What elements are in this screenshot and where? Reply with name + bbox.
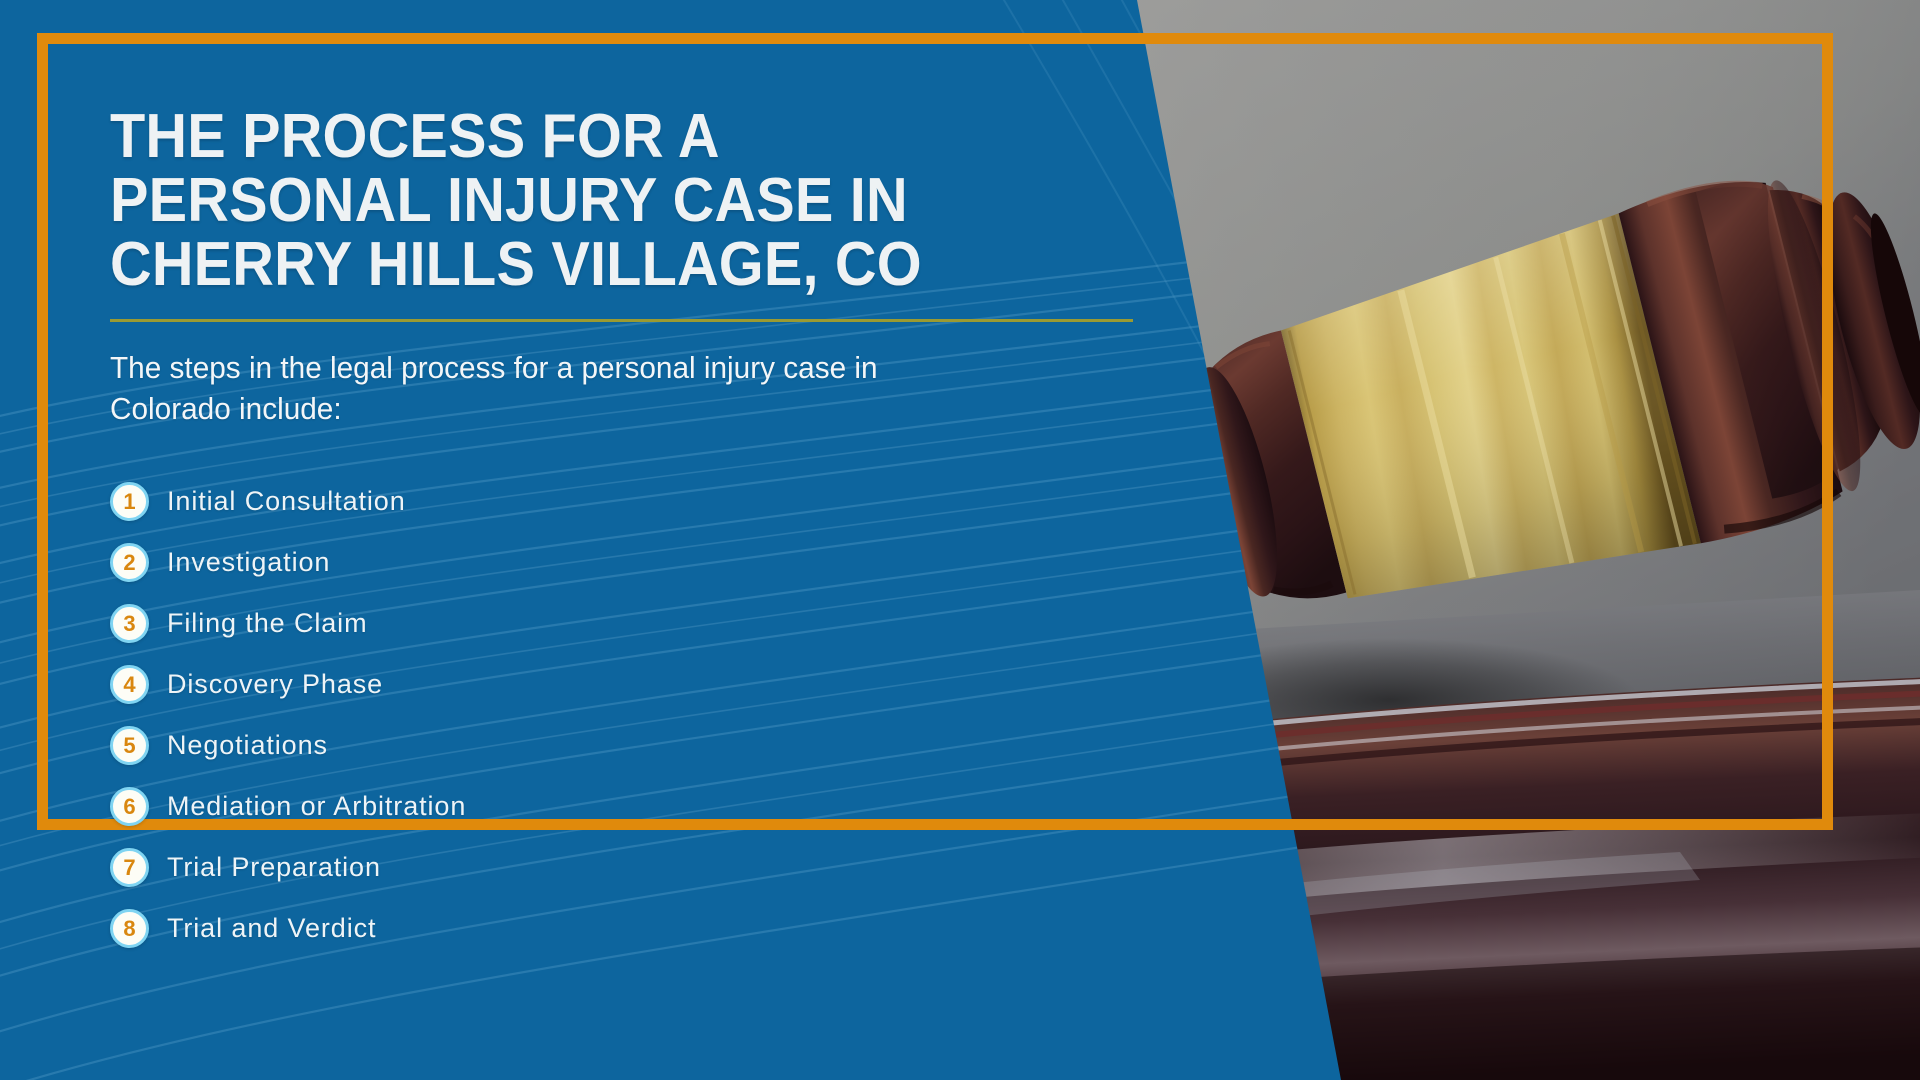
step-number-badge: 3 <box>110 604 149 643</box>
list-item: 6 Mediation or Arbitration <box>110 776 1120 837</box>
list-item: 2 Investigation <box>110 532 1120 593</box>
step-label: Trial Preparation <box>167 852 381 883</box>
list-item: 7 Trial Preparation <box>110 837 1120 898</box>
step-number-badge: 8 <box>110 909 149 948</box>
list-item: 4 Discovery Phase <box>110 654 1120 715</box>
infographic-canvas: THE PROCESS FOR A PERSONAL INJURY CASE I… <box>0 0 1920 1080</box>
step-label: Investigation <box>167 547 330 578</box>
step-label: Mediation or Arbitration <box>167 791 466 822</box>
step-number-badge: 6 <box>110 787 149 826</box>
subtitle-text: The steps in the legal process for a per… <box>110 347 955 429</box>
step-number-badge: 2 <box>110 543 149 582</box>
step-label: Trial and Verdict <box>167 913 376 944</box>
title-line-2: PERSONAL INJURY CASE IN <box>110 169 1049 233</box>
list-item: 8 Trial and Verdict <box>110 898 1120 959</box>
list-item: 3 Filing the Claim <box>110 593 1120 654</box>
step-label: Negotiations <box>167 730 328 761</box>
list-item: 1 Initial Consultation <box>110 471 1120 532</box>
content-block: THE PROCESS FOR A PERSONAL INJURY CASE I… <box>110 105 1120 959</box>
step-label: Filing the Claim <box>167 608 367 639</box>
step-label: Initial Consultation <box>167 486 406 517</box>
title-line-3: CHERRY HILLS VILLAGE, CO <box>110 233 1049 297</box>
step-number-badge: 1 <box>110 482 149 521</box>
steps-list: 1 Initial Consultation 2 Investigation 3… <box>110 471 1120 959</box>
list-item: 5 Negotiations <box>110 715 1120 776</box>
step-number-badge: 4 <box>110 665 149 704</box>
title-divider <box>110 319 1133 322</box>
page-title: THE PROCESS FOR A PERSONAL INJURY CASE I… <box>110 105 1049 297</box>
step-number-badge: 7 <box>110 848 149 887</box>
step-number-badge: 5 <box>110 726 149 765</box>
title-line-1: THE PROCESS FOR A <box>110 105 1049 169</box>
step-label: Discovery Phase <box>167 669 383 700</box>
